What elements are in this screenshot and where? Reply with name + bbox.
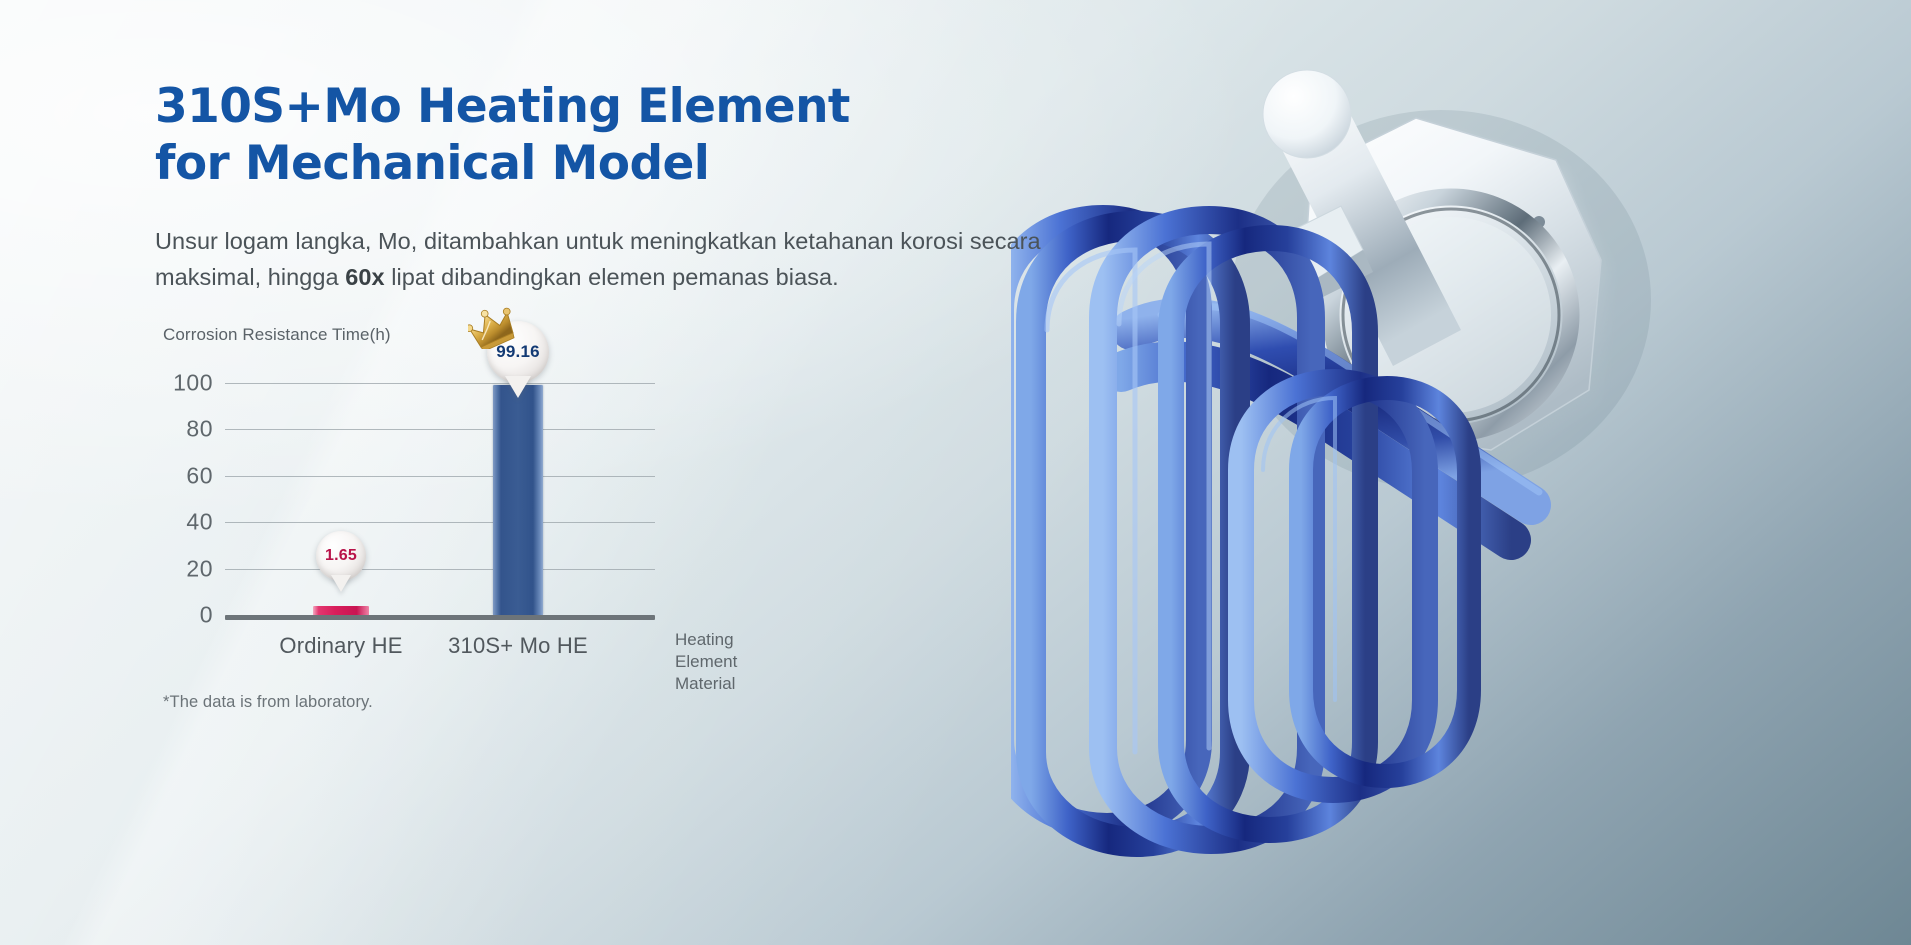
gridline-80 xyxy=(225,429,655,430)
description-emphasis: 60x xyxy=(345,264,384,290)
headline-line-1: 310S+Mo Heating Element xyxy=(155,79,850,134)
banner-copy: 310S+Mo Heating Element for Mechanical M… xyxy=(155,78,1105,296)
value-bubble: 1.65 xyxy=(316,531,366,581)
product-image xyxy=(1011,0,1911,945)
y-axis-tick-labels: 0 20 40 60 80 100 xyxy=(155,383,213,615)
gridline-40 xyxy=(225,522,655,523)
chart-gridlines xyxy=(225,383,655,615)
value-label-ordinary-he: 1.65 xyxy=(325,547,357,565)
value-pin-310s-mo-he: 99.16 xyxy=(487,321,549,383)
bar-ordinary-he[interactable] xyxy=(313,606,369,615)
gridline-100 xyxy=(225,383,655,384)
bar-310s-mo-he[interactable] xyxy=(493,385,543,615)
y-tick-100: 100 xyxy=(173,370,213,397)
chart-plot-area: 0 20 40 60 80 100 Ordinary xyxy=(155,383,915,673)
x-category-310s-mo-he: 310S+ Mo HE xyxy=(448,633,588,659)
chart-footnote: *The data is from laboratory. xyxy=(163,693,373,712)
y-tick-0: 0 xyxy=(200,602,213,629)
banner-description: Unsur logam langka, Mo, ditambahkan untu… xyxy=(155,223,1055,296)
description-part-2: lipat dibandingkan elemen pemanas biasa. xyxy=(385,264,839,290)
y-tick-20: 20 xyxy=(186,555,213,582)
gridline-20 xyxy=(225,569,655,570)
value-pin-ordinary-he: 1.65 xyxy=(316,531,366,581)
headline-line-2: for Mechanical Model xyxy=(155,135,1105,192)
corrosion-resistance-chart: Corrosion Resistance Time(h) 0 20 40 60 … xyxy=(155,325,915,725)
y-tick-60: 60 xyxy=(186,462,213,489)
gridline-60 xyxy=(225,476,655,477)
y-tick-80: 80 xyxy=(186,416,213,443)
page-title: 310S+Mo Heating Element for Mechanical M… xyxy=(155,78,1105,193)
y-tick-40: 40 xyxy=(186,509,213,536)
x-axis-line xyxy=(225,615,655,620)
banner-canvas: 310S+Mo Heating Element for Mechanical M… xyxy=(0,0,1911,945)
x-axis-title: Heating Element Material xyxy=(675,629,785,694)
x-category-ordinary-he: Ordinary HE xyxy=(279,633,402,659)
crown-icon xyxy=(468,305,526,354)
